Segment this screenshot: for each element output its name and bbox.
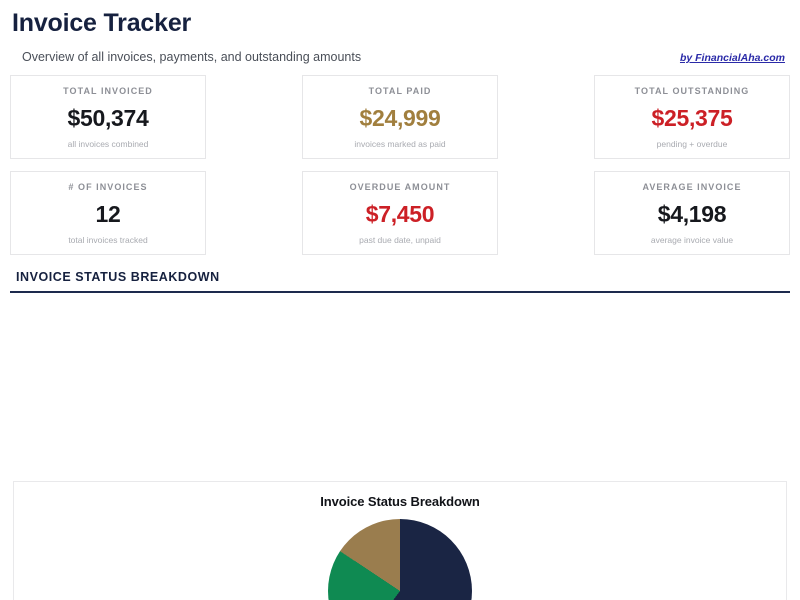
- page-header: Invoice Tracker Overview of all invoices…: [0, 0, 800, 65]
- kpi-sublabel: pending + overdue: [657, 139, 728, 150]
- section-title: Invoice Status Breakdown: [10, 269, 790, 285]
- chart-title: Invoice Status Breakdown: [14, 493, 786, 510]
- kpi-label: TOTAL PAID: [369, 85, 432, 97]
- kpi-sublabel: past due date, unpaid: [359, 235, 441, 246]
- kpi-label: OVERDUE AMOUNT: [350, 181, 451, 193]
- page-subtitle: Overview of all invoices, payments, and …: [22, 49, 361, 65]
- kpi-card-total-paid: TOTAL PAID $24,999 invoices marked as pa…: [302, 75, 498, 159]
- credit-link[interactable]: by FinancialAha.com: [680, 51, 786, 65]
- pie-chart[interactable]: [328, 519, 472, 600]
- kpi-label: TOTAL INVOICED: [63, 85, 153, 97]
- kpi-card-total-outstanding: TOTAL OUTSTANDING $25,375 pending + over…: [594, 75, 790, 159]
- pie-chart-wrapper: [14, 519, 786, 600]
- kpi-value: $4,198: [658, 201, 727, 227]
- kpi-value: $25,375: [651, 105, 732, 131]
- kpi-label: # OF INVOICES: [68, 181, 147, 193]
- invoice-tracker-page: Invoice Tracker Overview of all invoices…: [0, 0, 800, 600]
- kpi-card-number-of-invoices: # OF INVOICES 12 total invoices tracked: [10, 171, 206, 255]
- kpi-card-total-invoiced: TOTAL INVOICED $50,374 all invoices comb…: [10, 75, 206, 159]
- subtitle-row: Overview of all invoices, payments, and …: [12, 49, 788, 65]
- kpi-card-average-invoice: AVERAGE INVOICE $4,198 average invoice v…: [594, 171, 790, 255]
- kpi-value: $7,450: [366, 201, 435, 227]
- kpi-sublabel: average invoice value: [651, 235, 733, 246]
- kpi-sublabel: all invoices combined: [68, 139, 149, 150]
- kpi-sublabel: invoices marked as paid: [354, 139, 445, 150]
- kpi-value: $24,999: [359, 105, 440, 131]
- kpi-card-overdue-amount: OVERDUE AMOUNT $7,450 past due date, unp…: [302, 171, 498, 255]
- kpi-label: TOTAL OUTSTANDING: [635, 85, 750, 97]
- kpi-value: $50,374: [67, 105, 148, 131]
- kpi-value: 12: [96, 201, 121, 227]
- section-header-invoice-status-breakdown: Invoice Status Breakdown: [10, 269, 790, 293]
- chart-panel-invoice-status-breakdown: Invoice Status Breakdown: [13, 481, 787, 600]
- kpi-sublabel: total invoices tracked: [68, 235, 147, 246]
- kpi-label: AVERAGE INVOICE: [642, 181, 741, 193]
- page-title: Invoice Tracker: [12, 6, 788, 40]
- kpi-grid: TOTAL INVOICED $50,374 all invoices comb…: [0, 75, 800, 255]
